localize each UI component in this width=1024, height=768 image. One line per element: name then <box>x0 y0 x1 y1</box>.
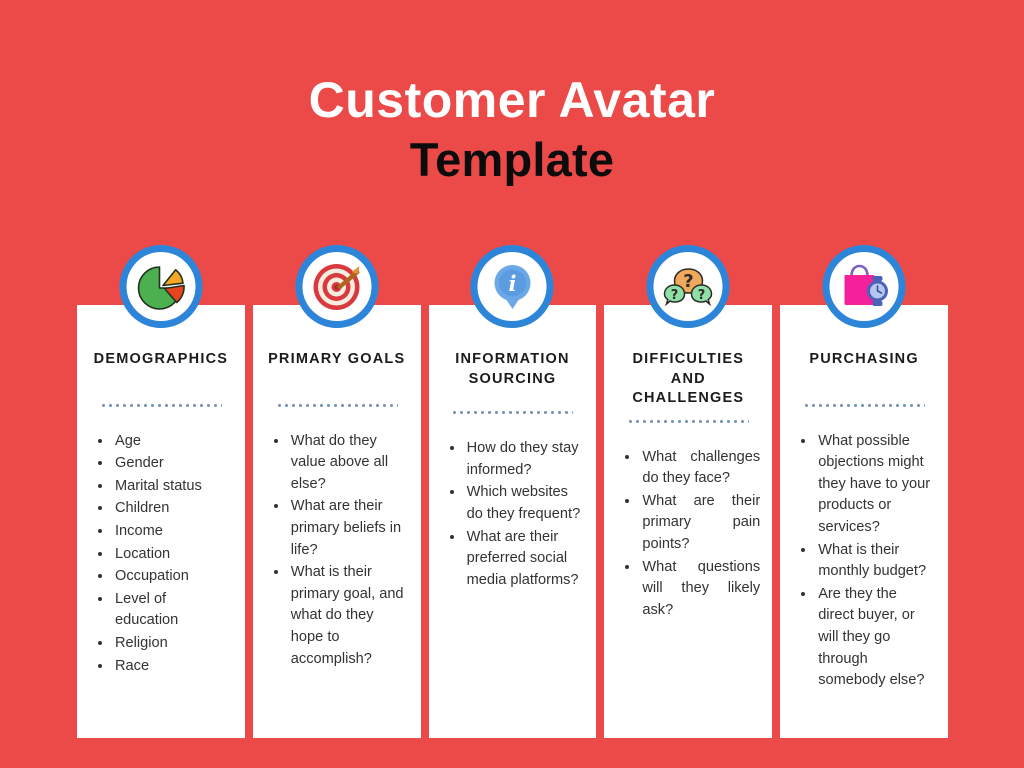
list-item: Children <box>113 498 233 520</box>
list-item: How do they stay informed? <box>465 438 585 481</box>
section-card-primary-goals: PRIMARY GOALS What do they value above a… <box>253 305 421 738</box>
list-item: What is their monthly budget? <box>816 540 936 583</box>
information-pin-icon: i <box>471 245 554 328</box>
dotted-divider <box>265 404 409 407</box>
list-item: What do they value above all else? <box>289 431 409 496</box>
page-title: Customer Avatar Template <box>0 72 1024 187</box>
list-item: Are they the direct buyer, or will they … <box>816 584 936 692</box>
section-item-list: What challenges do they face? What are t… <box>616 447 760 622</box>
dotted-divider <box>441 411 585 414</box>
list-item: What are their preferred social media pl… <box>465 527 585 592</box>
section-item-list: What possible objections might they have… <box>792 431 936 692</box>
list-item: Marital status <box>113 476 233 498</box>
section-item-list: What do they value above all else? What … <box>265 431 409 671</box>
section-card-information-sourcing: i INFORMATION SOURCING How do they stay … <box>429 305 597 738</box>
avatar-sections: DEMOGRAPHICS Age Gender Marital status C… <box>77 305 948 738</box>
list-item: Which websites do they frequent? <box>465 482 585 525</box>
dotted-divider <box>616 420 760 423</box>
title-line-primary: Customer Avatar <box>0 72 1024 128</box>
svg-text:?: ? <box>683 271 693 292</box>
list-item: Race <box>113 656 233 678</box>
list-item: Income <box>113 521 233 543</box>
section-item-list: How do they stay informed? Which website… <box>441 438 585 591</box>
list-item: Religion <box>113 633 233 655</box>
list-item: What are their primary beliefs in life? <box>289 496 409 561</box>
list-item: What possible objections might they have… <box>816 431 936 539</box>
list-item: Occupation <box>113 566 233 588</box>
dotted-divider <box>89 404 233 407</box>
section-card-difficulties-and-challenges: ? ? ? DIFFICULTIES AND CHALLENGES What c… <box>604 305 772 738</box>
svg-text:?: ? <box>671 288 679 303</box>
list-item: What are their primary pain points? <box>640 491 760 556</box>
list-item: Age <box>113 431 233 453</box>
title-line-secondary: Template <box>0 134 1024 187</box>
pie-chart-icon <box>119 245 202 328</box>
shopping-bag-watch-icon <box>823 245 906 328</box>
svg-text:i: i <box>508 271 516 296</box>
list-item: Gender <box>113 453 233 475</box>
list-item: What is their primary goal, and what do … <box>289 562 409 670</box>
section-item-list: Age Gender Marital status Children Incom… <box>89 431 233 678</box>
list-item: What questions will they likely ask? <box>640 557 760 622</box>
section-card-purchasing: PURCHASING What possible objections migh… <box>780 305 948 738</box>
list-item: Location <box>113 544 233 566</box>
svg-text:?: ? <box>698 288 706 303</box>
section-card-demographics: DEMOGRAPHICS Age Gender Marital status C… <box>77 305 245 738</box>
list-item: What challenges do they face? <box>640 447 760 490</box>
list-item: Level of education <box>113 589 233 632</box>
dotted-divider <box>792 404 936 407</box>
target-arrow-icon <box>295 245 378 328</box>
question-speech-bubbles-icon: ? ? ? <box>647 245 730 328</box>
